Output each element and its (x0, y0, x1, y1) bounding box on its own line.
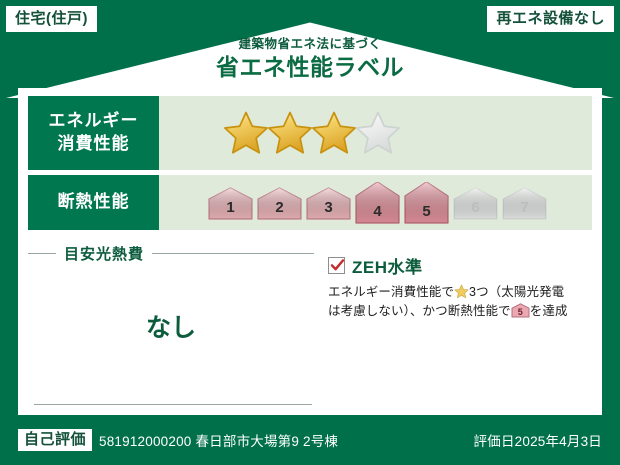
footer-evaluation-date: 評価日2025年4月3日 (474, 430, 602, 450)
energy-cost-bottom-rule (34, 404, 312, 405)
insulation-level-value: 5 (403, 204, 450, 219)
check-icon (330, 258, 345, 273)
zeh-description: エネルギー消費性能で3つ（太陽光発電 は考慮しない）、かつ断熱性能で5を達成 (328, 283, 592, 322)
inline-house-badge-value: 5 (511, 308, 530, 317)
insulation-level-1: 1 (207, 186, 254, 220)
energy-performance-row: エネルギー 消費性能 (28, 96, 592, 170)
insulation-level-value: 3 (305, 200, 352, 215)
inline-house-badge: 5 (511, 303, 530, 318)
insulation-performance-row: 断熱性能 1234567 (28, 175, 592, 230)
energy-performance-label-line1: エネルギー (49, 110, 139, 133)
insulation-performance-label: 断熱性能 (28, 175, 159, 230)
insulation-level-3: 3 (305, 186, 352, 220)
insulation-level-value: 1 (207, 200, 254, 215)
star-filled-icon (267, 110, 313, 156)
energy-performance-label: エネルギー 消費性能 (28, 96, 159, 170)
label-body-panel: エネルギー 消費性能 断熱性能 1234567 目安光熱費 なし (18, 88, 602, 415)
star-filled-icon (223, 110, 269, 156)
star-rating (159, 96, 592, 170)
inline-star-icon (454, 284, 469, 299)
energy-cost-header: 目安光熱費 (28, 243, 314, 264)
building-type-badge: 住宅(住戸) (6, 6, 97, 32)
zeh-desc-part4: を達成 (530, 304, 568, 318)
footer-id-address: 581912000200 春日部市大場第9 2号棟 (99, 430, 338, 450)
insulation-level-4: 4 (354, 182, 401, 224)
insulation-level-6: 6 (452, 186, 499, 220)
zeh-desc-part2: 3つ（太陽光発電 (469, 285, 564, 299)
energy-cost-title: 目安光熱費 (64, 243, 144, 264)
insulation-level-value: 7 (501, 200, 548, 215)
energy-cost-rule-left (28, 253, 56, 254)
label-footer: 自己評価 581912000200 春日部市大場第9 2号棟 評価日2025年4… (0, 415, 620, 465)
insulation-level-value: 4 (354, 204, 401, 219)
renewable-energy-badge: 再エネ設備なし (487, 6, 614, 32)
energy-cost-rule-right (152, 253, 314, 254)
insulation-level-value: 2 (256, 200, 303, 215)
zeh-title: ZEH水準 (352, 253, 423, 278)
energy-cost-value: なし (28, 264, 314, 404)
star-filled-icon (311, 110, 357, 156)
self-evaluation-badge: 自己評価 (18, 429, 92, 451)
zeh-desc-part1: エネルギー消費性能で (328, 285, 454, 299)
insulation-level-5: 5 (403, 182, 450, 224)
zeh-header: ZEH水準 (328, 253, 592, 278)
insulation-level-value: 6 (452, 200, 499, 215)
zeh-checkbox[interactable] (328, 257, 345, 274)
insulation-scale: 1234567 (159, 175, 592, 230)
star-empty-icon (355, 110, 401, 156)
insulation-performance-label-text: 断熱性能 (58, 191, 130, 214)
insulation-level-2: 2 (256, 186, 303, 220)
zeh-section: ZEH水準 エネルギー消費性能で3つ（太陽光発電 は考慮しない）、かつ断熱性能で… (328, 241, 592, 415)
lower-section: 目安光熱費 なし ZEH水準 エネルギー消費性能で3つ（太陽光発電 (28, 241, 592, 415)
energy-performance-label: 住宅(住戸) 再エネ設備なし 建築物省エネ法に基づく 省エネ性能ラベル エネルギ… (0, 0, 620, 465)
energy-cost-section: 目安光熱費 なし (28, 241, 328, 415)
zeh-desc-part3: は考慮しない）、かつ断熱性能で (328, 304, 511, 318)
insulation-level-7: 7 (501, 186, 548, 220)
energy-performance-label-line2: 消費性能 (58, 133, 130, 156)
